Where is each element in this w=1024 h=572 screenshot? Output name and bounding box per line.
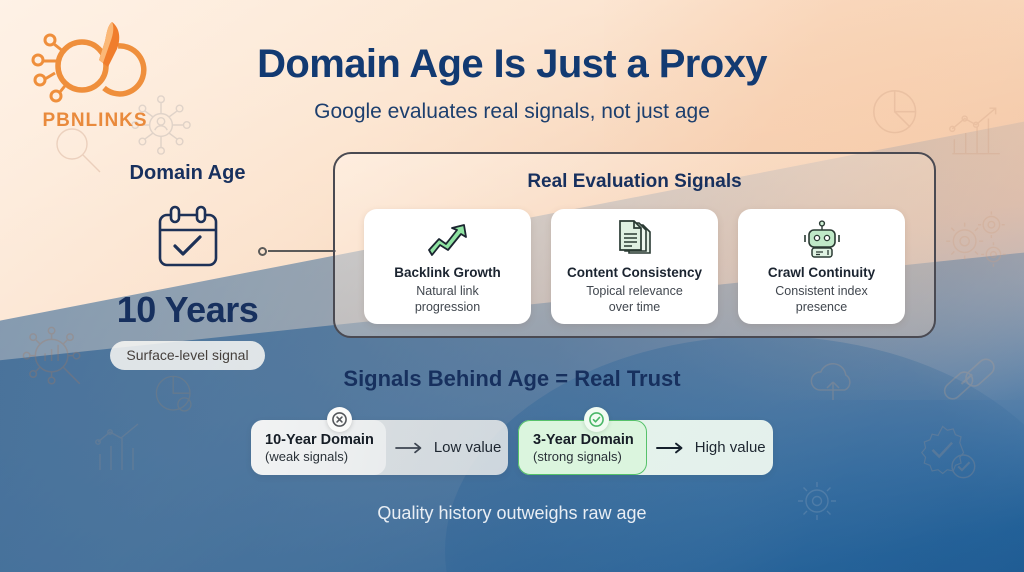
comparison-row: 10-Year Domain (weak signals) Low value … bbox=[0, 420, 1024, 475]
comparison-card-positive[interactable]: 3-Year Domain (strong signals) High valu… bbox=[518, 420, 773, 475]
comparison-chip-negative: 10-Year Domain (weak signals) bbox=[251, 420, 386, 475]
domain-age-value: 10 Years bbox=[85, 289, 290, 331]
signal-card-desc: Topical relevanceover time bbox=[586, 283, 683, 315]
footer-caption: Quality history outweighs raw age bbox=[0, 503, 1024, 524]
domain-age-label: Domain Age bbox=[85, 162, 290, 185]
connector-line bbox=[268, 250, 336, 252]
comparison-chip-positive: 3-Year Domain (strong signals) bbox=[518, 420, 647, 475]
comparison-value: Low value bbox=[434, 439, 502, 456]
arrow-right-icon bbox=[395, 442, 425, 454]
connector-dot bbox=[258, 247, 267, 256]
signal-card-crawl-continuity[interactable]: Crawl Continuity Consistent indexpresenc… bbox=[738, 209, 905, 324]
comparison-chip-main: 3-Year Domain bbox=[533, 432, 634, 448]
comparison-chip-main: 10-Year Domain bbox=[265, 432, 374, 448]
comparison-chip-sub: (weak signals) bbox=[265, 449, 374, 464]
documents-stack-icon bbox=[614, 220, 656, 260]
comparison-value: High value bbox=[695, 439, 766, 456]
check-circle-icon bbox=[584, 407, 609, 432]
calendar-check-icon bbox=[152, 203, 224, 273]
signals-panel-title: Real Evaluation Signals bbox=[335, 171, 934, 193]
signal-card-title: Crawl Continuity bbox=[768, 265, 875, 280]
infographic-canvas: PBNLINKS Domain Age Is Just a Proxy Goog… bbox=[0, 0, 1024, 572]
real-evaluation-signals-panel: Real Evaluation Signals Backlink Growth … bbox=[333, 152, 936, 338]
gears-icon bbox=[940, 198, 1014, 272]
signal-card-backlink-growth[interactable]: Backlink Growth Natural linkprogression bbox=[364, 209, 531, 324]
signal-card-desc: Consistent indexpresence bbox=[775, 283, 867, 315]
comparison-card-negative[interactable]: 10-Year Domain (weak signals) Low value bbox=[251, 420, 508, 475]
domain-age-block: Domain Age 10 Years Surface-level signal bbox=[85, 162, 290, 370]
signal-card-title: Backlink Growth bbox=[394, 265, 501, 280]
page-title: Domain Age Is Just a Proxy bbox=[0, 42, 1024, 87]
robot-icon bbox=[801, 220, 843, 260]
signal-card-content-consistency[interactable]: Content Consistency Topical relevanceove… bbox=[551, 209, 718, 324]
x-circle-icon bbox=[327, 407, 352, 432]
comparison-chip-sub: (strong signals) bbox=[533, 449, 634, 464]
signal-card-title: Content Consistency bbox=[567, 265, 702, 280]
signal-card-desc: Natural linkprogression bbox=[415, 283, 480, 315]
arrow-right-icon bbox=[656, 442, 686, 454]
trending-up-arrow-icon bbox=[426, 222, 470, 258]
page-subtitle: Google evaluates real signals, not just … bbox=[0, 100, 1024, 124]
trust-heading: Signals Behind Age = Real Trust bbox=[0, 366, 1024, 392]
